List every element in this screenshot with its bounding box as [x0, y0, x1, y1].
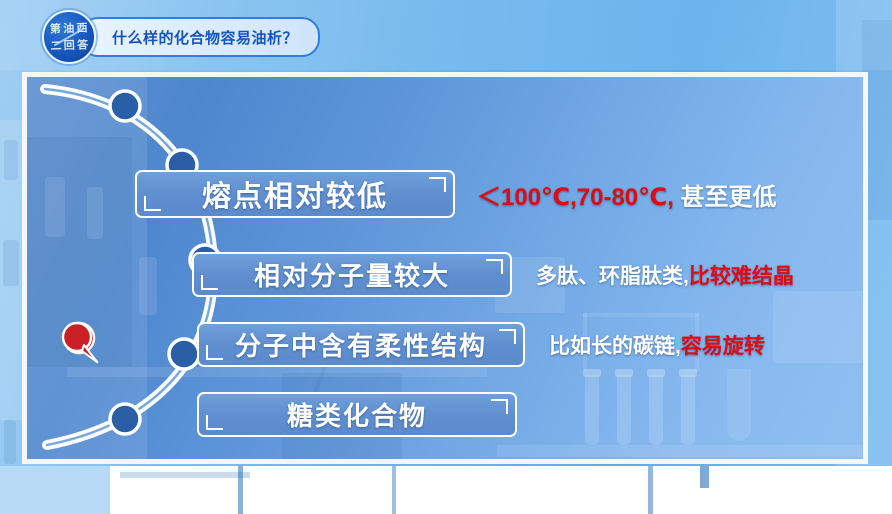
background-stand-mid [392, 466, 396, 514]
criteria-row-4[interactable]: 糖类化合物 [197, 392, 517, 437]
criteria-note-2-part-1: 比较难结晶 [689, 265, 794, 288]
criteria-label-3[interactable]: 分子中含有柔性结构 [197, 322, 525, 367]
corner-bracket-bottom-left-icon [206, 345, 223, 360]
criteria-row-2[interactable]: 相对分子量较大 多肽、环脂肽类,比较难结晶 [192, 252, 794, 297]
criteria-label-2[interactable]: 相对分子量较大 [192, 252, 512, 297]
criteria-label-text-4: 糖类化合物 [287, 396, 427, 433]
criteria-label-text-2: 相对分子量较大 [254, 256, 450, 293]
panel-deco-bottle-1 [45, 177, 65, 237]
logo-char-5: 回 [64, 40, 75, 51]
panel-monitor [773, 291, 863, 363]
panel-test-tube-3 [649, 375, 663, 445]
background-stand-right [648, 466, 653, 514]
background-bottle-a [4, 140, 18, 180]
criteria-note-2: 多肽、环脂肽类,比较难结晶 [536, 260, 794, 290]
logo-char-3: 二 [50, 40, 61, 51]
logo-char-6: 答 [77, 39, 88, 50]
corner-bracket-bottom-left-icon [206, 415, 223, 430]
criteria-note-1-part-0: ＜100℃,70-80℃, [477, 184, 674, 211]
logo-glyphs: 第 油 西 二 回 答 [48, 19, 89, 54]
logo-char-2: 西 [76, 22, 87, 33]
content-panel: 熔点相对较低 ＜100℃,70-80℃, 甚至更低 相对分子量较大 多肽、环脂肽… [27, 77, 863, 459]
background-stand-far-right [700, 466, 709, 488]
panel-test-tube-cap-3 [647, 369, 665, 377]
criteria-label-1[interactable]: 熔点相对较低 [135, 170, 455, 218]
background-counter-left [0, 466, 110, 514]
arc-node-4 [169, 339, 199, 369]
corner-bracket-bottom-left-icon [201, 275, 218, 290]
corner-bracket-top-right-icon [429, 177, 446, 192]
panel-deco-bottle-2 [87, 187, 103, 239]
panel-test-tube-2 [617, 375, 631, 445]
panel-tube-stand-top [583, 313, 699, 317]
panel-flask-icon [727, 369, 751, 441]
criteria-note-3-part-1: 容易旋转 [681, 335, 765, 358]
panel-test-tube-4 [681, 375, 695, 445]
criteria-label-4[interactable]: 糖类化合物 [197, 392, 517, 437]
panel-test-tube-1 [585, 375, 599, 445]
corner-bracket-bottom-left-icon [144, 196, 161, 211]
criteria-row-1[interactable]: 熔点相对较低 ＜100℃,70-80℃, 甚至更低 [135, 170, 777, 218]
corner-bracket-top-right-icon [491, 399, 508, 414]
criteria-note-3: 比如长的碳链,容易旋转 [549, 330, 765, 360]
qa-logo-badge: 第 油 西 二 回 答 [42, 10, 96, 64]
panel-deco-bench [67, 367, 487, 377]
content-frame: 熔点相对较低 ＜100℃,70-80℃, 甚至更低 相对分子量较大 多肽、环脂肽… [22, 72, 868, 464]
slide-stage: 第 油 西 二 回 答 什么样的化合物容易油析？ [0, 0, 892, 514]
criteria-row-3[interactable]: 分子中含有柔性结构 比如长的碳链,容易旋转 [197, 322, 765, 367]
panel-deco-bottle-3 [139, 257, 157, 315]
background-bottle-c [4, 420, 16, 464]
location-pin-icon [57, 317, 101, 365]
panel-test-tube-cap-2 [615, 369, 633, 377]
criteria-label-text-3: 分子中含有柔性结构 [235, 326, 487, 363]
criteria-note-1-part-1: 甚至更低 [674, 184, 777, 211]
criteria-label-text-1: 熔点相对较低 [202, 173, 388, 215]
panel-counter [497, 445, 863, 457]
corner-bracket-top-right-icon [486, 259, 503, 274]
corner-bracket-top-right-icon [499, 329, 516, 344]
page-title: 什么样的化合物容易油析？ [80, 17, 320, 57]
criteria-note-2-part-0: 多肽、环脂肽类, [536, 265, 689, 288]
criteria-note-3-part-0: 比如长的碳链, [549, 335, 681, 358]
title-bar: 第 油 西 二 回 答 什么样的化合物容易油析？ [42, 14, 320, 60]
criteria-note-1: ＜100℃,70-80℃, 甚至更低 [477, 177, 777, 212]
logo-char-1: 油 [63, 23, 74, 34]
logo-char-0: 第 [50, 23, 61, 34]
background-bottle-b [3, 240, 19, 286]
background-table-edge [120, 472, 250, 478]
